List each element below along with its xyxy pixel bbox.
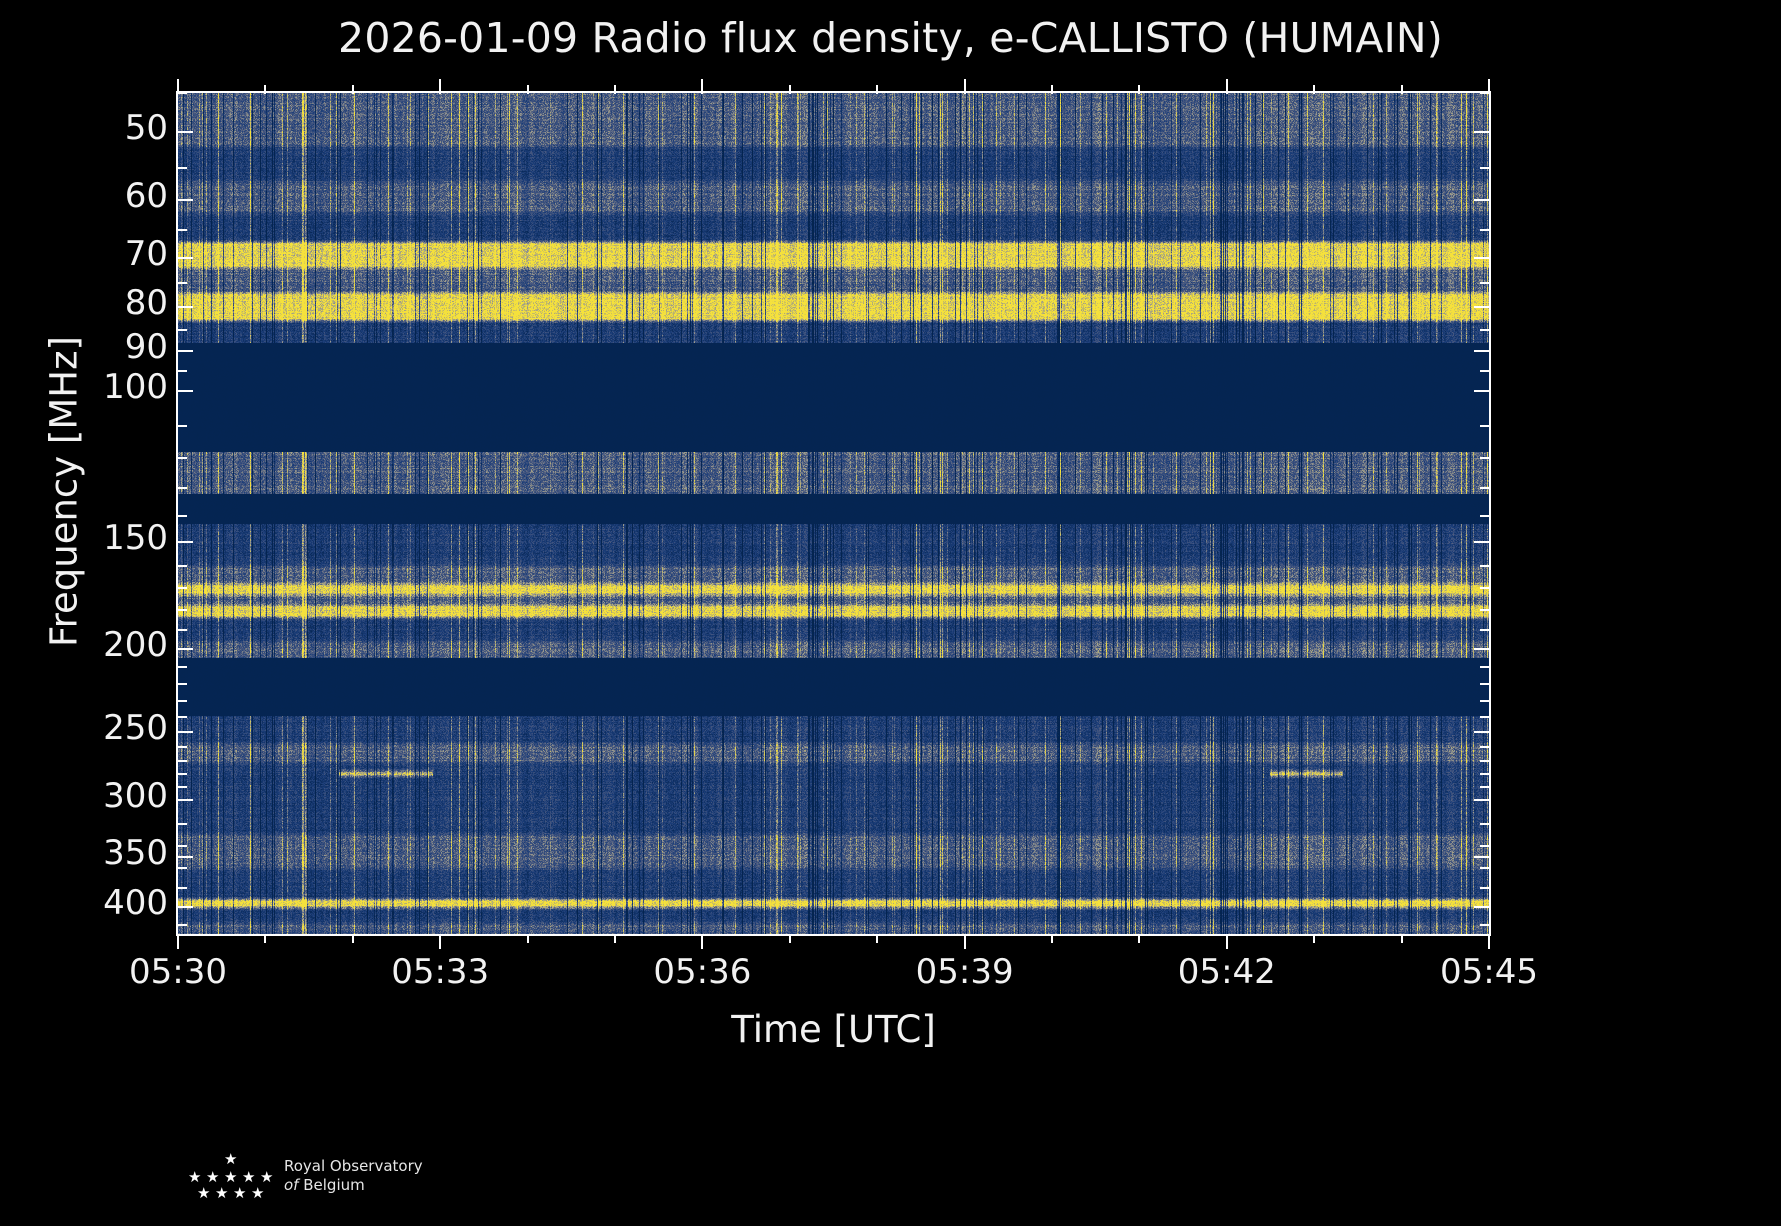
y-tick-mark-minor [178, 823, 187, 825]
y-tick-mark-right [1474, 390, 1489, 392]
x-tick-mark [177, 934, 179, 949]
logo-stars-icon: ★★★★★★★★★★ [178, 1150, 270, 1202]
y-tick-mark-minor-right [1480, 823, 1489, 825]
logo-of-word: of [284, 1176, 298, 1194]
y-tick-mark-minor [178, 786, 187, 788]
royal-observatory-logo: ★★★★★★★★★★ Royal Observatory of Belgium [178, 1150, 423, 1202]
x-tick-mark-minor [527, 934, 529, 943]
y-tick-mark-minor-right [1480, 487, 1489, 489]
star-icon: ★ [197, 1186, 210, 1201]
y-tick-mark-minor-right [1480, 282, 1489, 284]
y-tick-mark [178, 257, 193, 259]
y-tick-mark-minor [178, 229, 187, 231]
y-tick-mark-minor-right [1480, 425, 1489, 427]
y-tick-mark-minor [178, 609, 187, 611]
y-tick-mark [178, 131, 193, 133]
y-tick-label: 400 [103, 883, 168, 923]
y-tick-mark-minor [178, 370, 187, 372]
y-tick-mark [178, 856, 193, 858]
y-tick-mark-minor-right [1480, 746, 1489, 748]
y-tick-mark-right [1474, 131, 1489, 133]
x-tick-mark-minor-top [1401, 85, 1403, 94]
y-tick-mark [178, 390, 193, 392]
y-tick-mark-minor-right [1480, 587, 1489, 589]
star-icon: ★ [242, 1170, 255, 1185]
y-tick-mark-minor-right [1480, 666, 1489, 668]
y-tick-mark-minor-right [1480, 229, 1489, 231]
star-icon: ★ [206, 1170, 219, 1185]
star-icon: ★ [260, 1170, 273, 1185]
y-tick-mark-minor-right [1480, 515, 1489, 517]
y-tick-label: 200 [103, 625, 168, 665]
x-tick-mark-top [1488, 79, 1490, 94]
star-icon: ★ [251, 1186, 264, 1201]
star-icon: ★ [224, 1170, 237, 1185]
logo-line-1: Royal Observatory [284, 1157, 423, 1176]
y-tick-mark-minor [178, 282, 187, 284]
spectrogram-raster [178, 93, 1489, 934]
y-tick-mark-minor [178, 487, 187, 489]
logo-text: Royal Observatory of Belgium [284, 1157, 423, 1195]
x-tick-mark-minor-top [789, 85, 791, 94]
x-tick-mark-minor [876, 934, 878, 943]
x-tick-mark-minor-top [1138, 85, 1140, 94]
y-tick-mark-right [1474, 350, 1489, 352]
y-tick-mark-minor-right [1480, 329, 1489, 331]
y-tick-mark-minor-right [1480, 845, 1489, 847]
x-tick-mark-minor-top [876, 85, 878, 94]
y-tick-mark-minor-right [1480, 565, 1489, 567]
y-tick-mark-minor [178, 683, 187, 685]
y-tick-mark-minor-right [1480, 716, 1489, 718]
y-tick-mark-minor-right [1480, 700, 1489, 702]
x-tick-mark-minor-top [264, 85, 266, 94]
x-tick-mark [1226, 934, 1228, 949]
y-tick-mark-minor [178, 167, 187, 169]
x-tick-mark [701, 934, 703, 949]
x-axis-title: Time [UTC] [178, 1008, 1489, 1051]
y-tick-mark-minor-right [1480, 773, 1489, 775]
star-icon: ★ [215, 1186, 228, 1201]
y-tick-mark-minor [178, 773, 187, 775]
y-tick-mark-minor [178, 425, 187, 427]
y-tick-label: 350 [103, 833, 168, 873]
x-tick-label: 05:33 [391, 952, 489, 992]
y-tick-mark-right [1474, 306, 1489, 308]
y-tick-label: 50 [125, 108, 168, 148]
y-tick-mark [178, 731, 193, 733]
y-tick-mark-minor [178, 515, 187, 517]
x-tick-mark-top [701, 79, 703, 94]
x-tick-mark-minor [264, 934, 266, 943]
y-tick-mark-minor-right [1480, 683, 1489, 685]
x-tick-mark-minor [789, 934, 791, 943]
y-tick-mark-minor [178, 746, 187, 748]
y-tick-mark-minor-right [1480, 867, 1489, 869]
y-tick-label: 300 [103, 776, 168, 816]
x-tick-mark [439, 934, 441, 949]
star-icon: ★ [188, 1170, 201, 1185]
y-tick-mark [178, 906, 193, 908]
y-tick-label: 60 [125, 176, 168, 216]
y-tick-mark-minor [178, 457, 187, 459]
y-tick-label: 70 [125, 234, 168, 274]
y-tick-mark-minor-right [1480, 924, 1489, 926]
y-tick-mark-right [1474, 541, 1489, 543]
y-tick-mark [178, 541, 193, 543]
y-tick-mark-minor [178, 845, 187, 847]
y-tick-label: 100 [103, 367, 168, 407]
x-tick-mark-minor [614, 934, 616, 943]
y-tick-mark-minor-right [1480, 887, 1489, 889]
page-title: 2026-01-09 Radio flux density, e-CALLIST… [0, 14, 1781, 62]
logo-line-2: of Belgium [284, 1176, 423, 1195]
star-icon: ★ [224, 1152, 237, 1167]
y-tick-mark [178, 350, 193, 352]
y-tick-mark-minor-right [1480, 457, 1489, 459]
y-tick-mark-minor-right [1480, 760, 1489, 762]
y-tick-mark-minor [178, 887, 187, 889]
x-tick-mark-minor [352, 934, 354, 943]
y-tick-label: 80 [125, 283, 168, 323]
y-tick-mark-right [1474, 856, 1489, 858]
y-tick-mark-minor-right [1480, 370, 1489, 372]
spectrogram-plot[interactable] [178, 93, 1489, 934]
y-tick-mark-minor [178, 565, 187, 567]
x-tick-mark-minor-top [352, 85, 354, 94]
y-tick-mark-right [1474, 257, 1489, 259]
y-tick-mark-minor [178, 716, 187, 718]
y-tick-mark-minor [178, 700, 187, 702]
y-tick-mark-minor-right [1480, 167, 1489, 169]
x-tick-label: 05:30 [129, 952, 227, 992]
y-tick-label: 150 [103, 518, 168, 558]
y-axis-title: Frequency [MHz] [43, 92, 86, 892]
x-tick-mark-minor-top [1051, 85, 1053, 94]
x-tick-mark-minor [1051, 934, 1053, 943]
y-tick-mark-minor [178, 760, 187, 762]
y-tick-mark-right [1474, 731, 1489, 733]
spectrogram-image [178, 93, 1489, 934]
y-tick-mark-minor [178, 92, 187, 94]
x-tick-mark-minor [1138, 934, 1140, 943]
y-tick-mark-right [1474, 648, 1489, 650]
y-tick-mark-minor [178, 924, 187, 926]
y-tick-mark-minor [178, 629, 187, 631]
x-tick-mark [1488, 934, 1490, 949]
y-tick-mark-minor-right [1480, 786, 1489, 788]
y-tick-mark-minor [178, 587, 187, 589]
y-tick-mark-right [1474, 799, 1489, 801]
x-tick-mark-minor-top [614, 85, 616, 94]
x-tick-mark-minor [1313, 934, 1315, 943]
y-tick-mark [178, 648, 193, 650]
x-tick-mark-minor-top [527, 85, 529, 94]
y-tick-mark-minor [178, 666, 187, 668]
y-tick-mark-right [1474, 906, 1489, 908]
y-tick-mark-minor-right [1480, 629, 1489, 631]
x-tick-mark-top [1226, 79, 1228, 94]
x-tick-mark-minor [1401, 934, 1403, 943]
y-tick-label: 250 [103, 708, 168, 748]
x-tick-label: 05:36 [653, 952, 751, 992]
star-icon: ★ [233, 1186, 246, 1201]
x-tick-label: 05:39 [916, 952, 1014, 992]
logo-belgium-word: Belgium [303, 1176, 365, 1194]
y-tick-mark [178, 306, 193, 308]
x-tick-mark-minor-top [1313, 85, 1315, 94]
x-tick-mark-top [177, 79, 179, 94]
y-tick-mark-minor [178, 867, 187, 869]
x-tick-mark [964, 934, 966, 949]
x-tick-label: 05:45 [1440, 952, 1538, 992]
y-tick-mark-minor-right [1480, 609, 1489, 611]
y-tick-mark-right [1474, 199, 1489, 201]
x-tick-mark-top [964, 79, 966, 94]
figure-canvas: 2026-01-09 Radio flux density, e-CALLIST… [0, 0, 1781, 1226]
y-tick-mark [178, 199, 193, 201]
y-tick-mark-minor [178, 329, 187, 331]
x-tick-label: 05:42 [1178, 952, 1276, 992]
x-tick-mark-top [439, 79, 441, 94]
y-tick-mark [178, 799, 193, 801]
y-tick-label: 90 [125, 327, 168, 367]
